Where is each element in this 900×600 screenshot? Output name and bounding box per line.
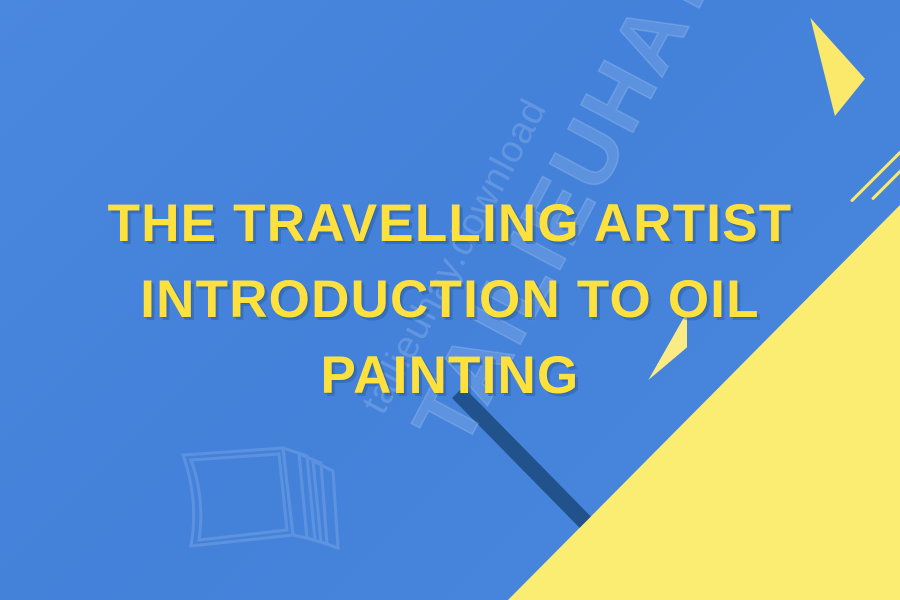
presentation-slide: TAILIEUHAY tailieuhay.download THE TRAVE… xyxy=(0,0,900,600)
